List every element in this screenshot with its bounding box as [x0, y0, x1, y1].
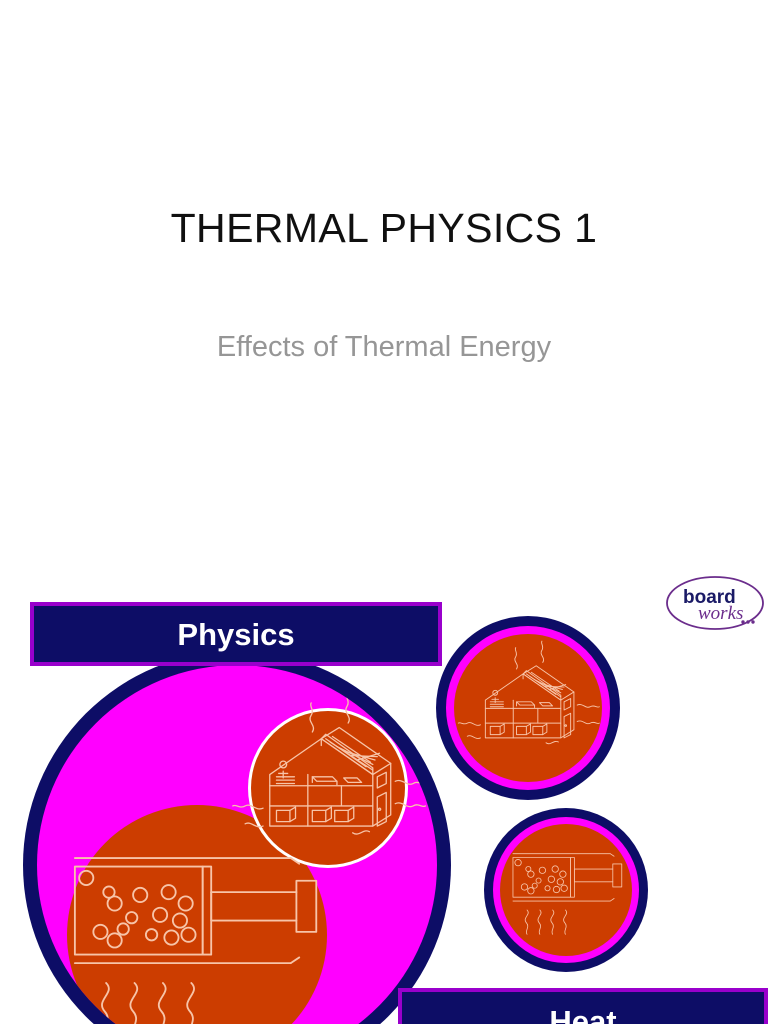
banner-heat-label: Heat: [549, 1006, 616, 1024]
logo-dots-icon: [741, 620, 754, 623]
page-subtitle: Effects of Thermal Energy: [0, 330, 768, 365]
piston-circle-small: [484, 808, 648, 972]
page-title: THERMAL PHYSICS 1: [0, 205, 768, 252]
boardworks-logo: board works: [663, 572, 767, 634]
large-composite-circle: [23, 651, 451, 1024]
slide-canvas: THERMAL PHYSICS 1 Effects of Thermal Ene…: [0, 0, 768, 1024]
house-circle-small: [436, 616, 620, 800]
banner-physics-label: Physics: [177, 619, 294, 650]
subtitle-placeholder: Effects of Thermal Energy: [0, 330, 768, 365]
logo-word-works: works: [698, 603, 743, 624]
title-placeholder: THERMAL PHYSICS 1: [0, 205, 768, 252]
banner-physics[interactable]: Physics: [30, 602, 442, 666]
banner-heat[interactable]: Heat: [398, 988, 768, 1024]
